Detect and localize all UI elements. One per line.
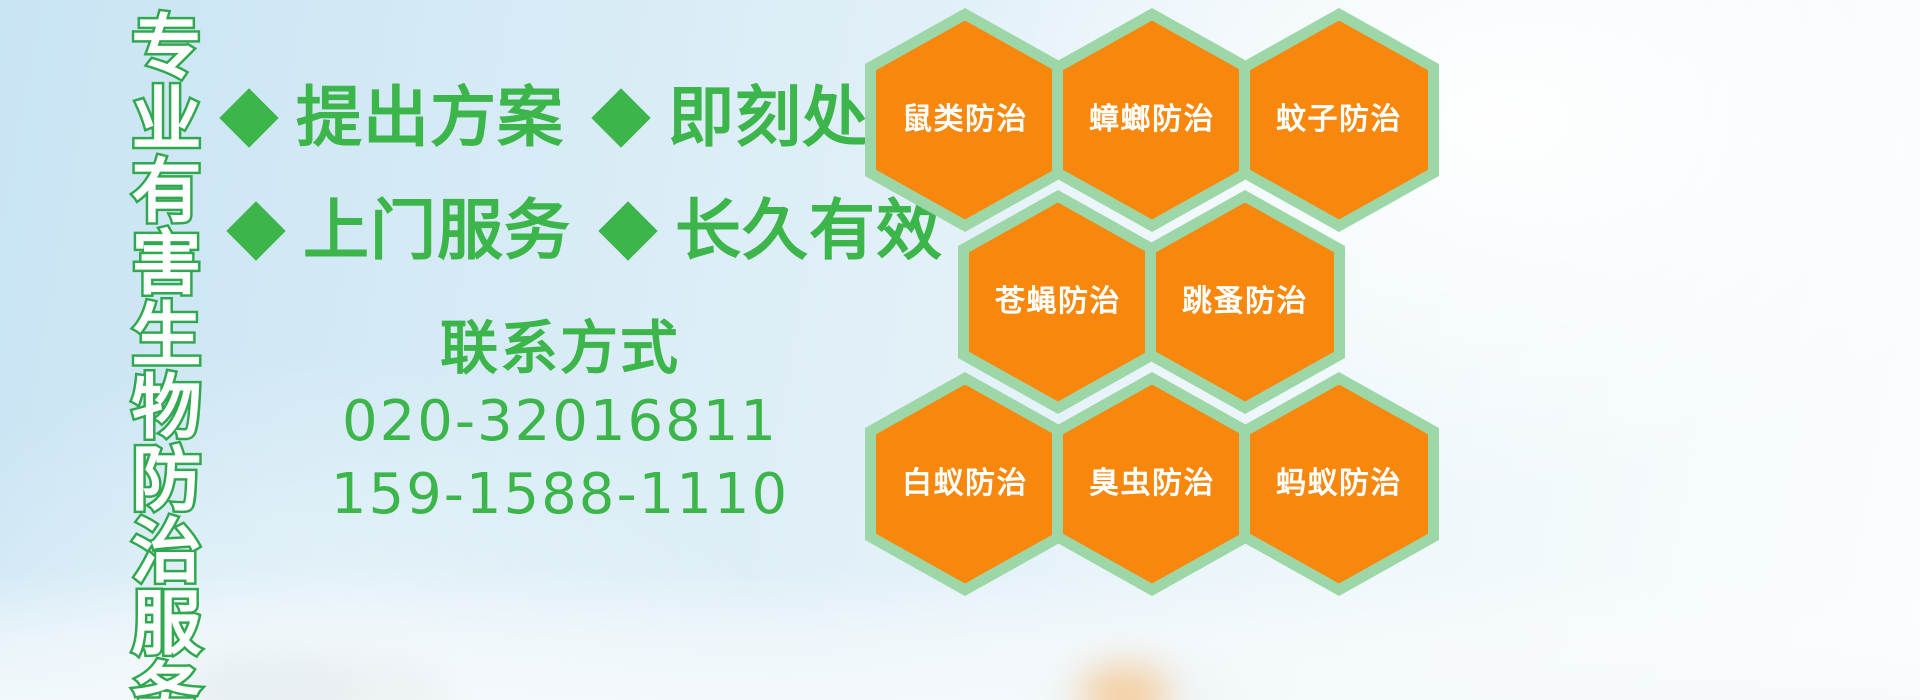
feature-row-2: 上门服务 长久有效 bbox=[235, 198, 943, 264]
contact-title: 联系方式 bbox=[300, 312, 820, 385]
feature-item-propose-plan: 提出方案 bbox=[228, 85, 564, 151]
hex-inner: 蚂蚁防治 bbox=[1250, 385, 1428, 584]
service-hex-cockroach[interactable]: 蟑螂防治 bbox=[1052, 8, 1252, 232]
service-hex-fly[interactable]: 苍蝇防治 bbox=[958, 190, 1158, 414]
service-hex-ant[interactable]: 蚂蚁防治 bbox=[1239, 372, 1439, 596]
hex-inner: 蚊子防治 bbox=[1250, 21, 1428, 220]
hex-inner: 蟑螂防治 bbox=[1063, 21, 1241, 220]
service-hex-label: 白蚁防治 bbox=[902, 469, 1028, 499]
service-hex-termite[interactable]: 白蚁防治 bbox=[865, 372, 1065, 596]
contact-phone-landline[interactable]: 020-32016811 bbox=[300, 385, 820, 459]
service-hex-rodent[interactable]: 鼠类防治 bbox=[865, 8, 1065, 232]
contact-block: 联系方式 020-32016811 159-1588-1110 bbox=[300, 312, 820, 532]
hex-inner: 白蚁防治 bbox=[876, 385, 1054, 584]
service-hex-mosquito[interactable]: 蚊子防治 bbox=[1239, 8, 1439, 232]
feature-row-1: 提出方案 即刻处理 bbox=[228, 85, 936, 151]
contact-phone-mobile[interactable]: 159-1588-1110 bbox=[300, 458, 820, 532]
service-hex-label: 臭虫防治 bbox=[1089, 469, 1215, 499]
diamond-bullet-icon bbox=[598, 201, 657, 260]
service-hex-label: 蚊子防治 bbox=[1276, 105, 1402, 135]
diamond-bullet-icon bbox=[591, 88, 650, 147]
feature-label: 提出方案 bbox=[296, 85, 564, 151]
pest-control-banner: 专业有害生物防治服务 提出方案 即刻处理 上门服务 长久有效 联系方式 020-… bbox=[0, 0, 1920, 700]
background-blob bbox=[300, 650, 450, 700]
service-honeycomb: 鼠类防治 蟑螂防治 蚊子防治 苍蝇防治 跳蚤防治 白蚁防治 bbox=[855, 0, 1495, 620]
service-hex-flea[interactable]: 跳蚤防治 bbox=[1145, 190, 1345, 414]
feature-item-onsite-service: 上门服务 bbox=[235, 198, 571, 264]
service-hex-label: 跳蚤防治 bbox=[1182, 287, 1308, 317]
diamond-bullet-icon bbox=[226, 201, 285, 260]
service-hex-label: 苍蝇防治 bbox=[995, 287, 1121, 317]
background-blob bbox=[1080, 665, 1170, 700]
service-hex-label: 蟑螂防治 bbox=[1089, 105, 1215, 135]
hex-inner: 跳蚤防治 bbox=[1156, 203, 1334, 402]
background-blob bbox=[180, 650, 360, 700]
service-hex-label: 鼠类防治 bbox=[902, 105, 1028, 135]
service-hex-bedbug[interactable]: 臭虫防治 bbox=[1052, 372, 1252, 596]
background-blob bbox=[1040, 650, 1240, 700]
hex-inner: 臭虫防治 bbox=[1063, 385, 1241, 584]
vertical-service-title: 专业有害生物防治服务 bbox=[96, 10, 196, 570]
feature-label: 上门服务 bbox=[303, 198, 571, 264]
service-hex-label: 蚂蚁防治 bbox=[1276, 469, 1402, 499]
diamond-bullet-icon bbox=[219, 88, 278, 147]
hex-inner: 鼠类防治 bbox=[876, 21, 1054, 220]
hex-inner: 苍蝇防治 bbox=[969, 203, 1147, 402]
